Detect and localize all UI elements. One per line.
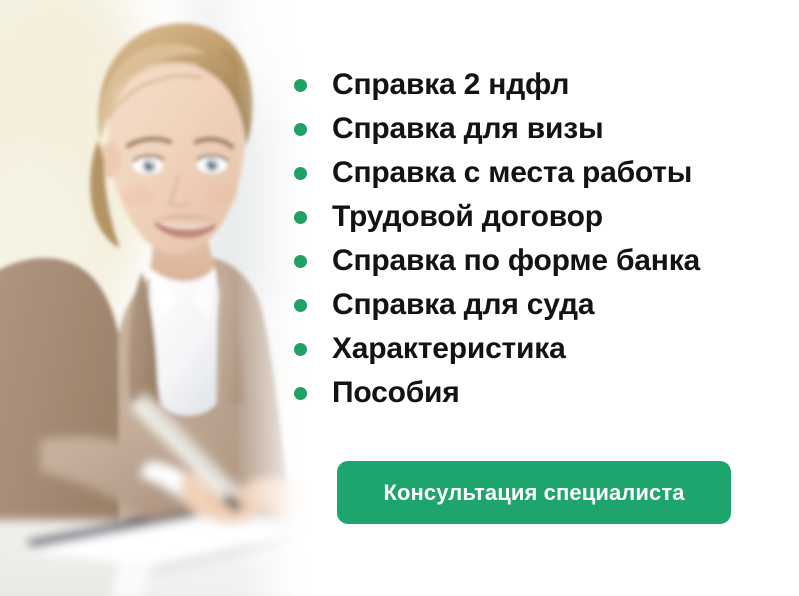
list-item-label: Справка по форме банка: [332, 246, 700, 276]
bullet-dot-icon: [294, 343, 307, 356]
list-item-label: Справка для суда: [332, 290, 594, 320]
list-item: Характеристика: [294, 327, 764, 371]
list-item: Пособия: [294, 371, 764, 415]
bullet-dot-icon: [294, 167, 307, 180]
bullet-dot-icon: [294, 387, 307, 400]
list-item-label: Пособия: [332, 378, 460, 408]
list-item-label: Справка для визы: [332, 114, 603, 144]
list-item-label: Характеристика: [332, 334, 566, 364]
list-item: Справка с места работы: [294, 151, 764, 195]
bullet-dot-icon: [294, 211, 307, 224]
list-item: Трудовой договор: [294, 195, 764, 239]
list-item: Справка для суда: [294, 283, 764, 327]
bullet-dot-icon: [294, 79, 307, 92]
list-item: Справка для визы: [294, 107, 764, 151]
consultant-photo: [0, 0, 340, 596]
list-item: Справка по форме банка: [294, 239, 764, 283]
list-item-label: Справка 2 ндфл: [332, 70, 569, 100]
bullet-dot-icon: [294, 299, 307, 312]
promo-banner: Справка 2 ндфл Справка для визы Справка …: [0, 0, 799, 596]
services-list: Справка 2 ндфл Справка для визы Справка …: [294, 63, 764, 415]
bullet-dot-icon: [294, 123, 307, 136]
list-item-label: Справка с места работы: [332, 158, 692, 188]
bullet-dot-icon: [294, 255, 307, 268]
list-item-label: Трудовой договор: [332, 202, 603, 232]
consultation-cta-button[interactable]: Консультация специалиста: [337, 461, 731, 524]
list-item: Справка 2 ндфл: [294, 63, 764, 107]
